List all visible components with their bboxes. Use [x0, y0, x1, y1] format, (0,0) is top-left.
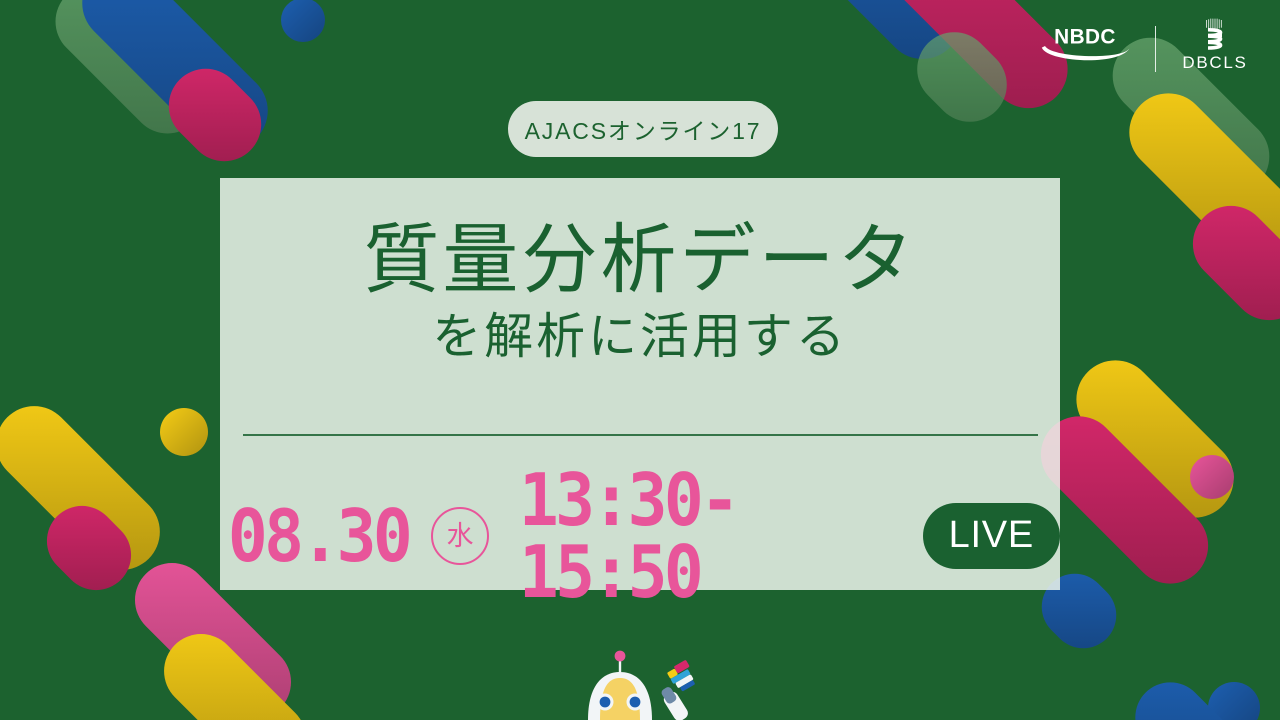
- dbcls-logo-label: DBCLS: [1182, 53, 1247, 73]
- series-badge: AJACSオンライン17: [508, 101, 778, 157]
- logo-group: NBDC DBCLS: [1037, 18, 1252, 80]
- live-badge-label: LIVE: [949, 516, 1034, 554]
- poster-canvas: 質量分析データ を解析に活用する 08.30 水 13:30-15:50 LIV…: [0, 0, 1280, 720]
- page-title: 質量分析データ: [363, 220, 916, 300]
- live-badge: LIVE: [923, 503, 1060, 569]
- dot-blue-topleft: [281, 0, 325, 42]
- nbdc-logo: NBDC: [1037, 21, 1133, 77]
- event-time-range: 13:30-15:50: [519, 464, 885, 608]
- day-of-week-badge: 水: [431, 507, 489, 565]
- day-of-week-label: 水: [446, 523, 473, 550]
- schedule-row: 08.30 水 13:30-15:50 LIVE: [220, 464, 1060, 608]
- dot-pink-midright: [1190, 455, 1234, 499]
- event-card: 質量分析データ を解析に活用する 08.30 水 13:30-15:50 LIV…: [220, 178, 1060, 590]
- divider: [243, 434, 1038, 436]
- dbcls-logo: DBCLS: [1178, 18, 1252, 80]
- page-subtitle: を解析に活用する: [432, 310, 848, 364]
- antenna-light: [615, 651, 626, 662]
- event-date: 08.30: [228, 500, 409, 572]
- series-badge-label: AJACSオンライン17: [525, 112, 762, 146]
- svg-text:NBDC: NBDC: [1054, 26, 1116, 49]
- dot-yellow-midleft: [160, 408, 208, 456]
- robot-mascot: [576, 650, 726, 720]
- logo-divider: [1155, 26, 1156, 72]
